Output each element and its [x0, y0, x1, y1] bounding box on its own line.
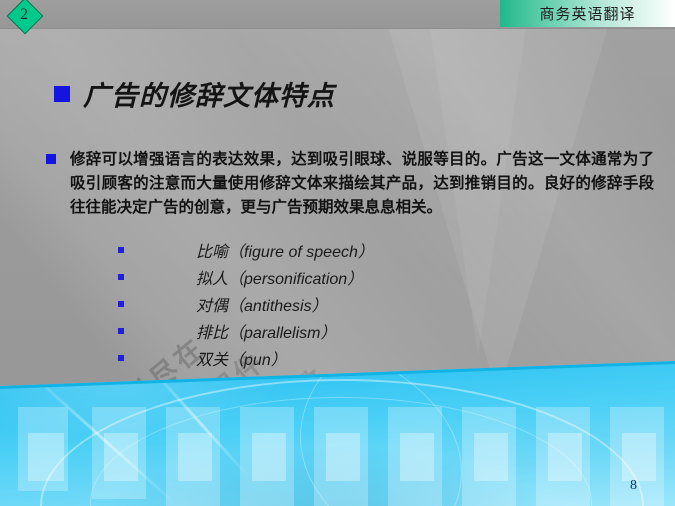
square-bullet-icon [46, 154, 56, 164]
list-item: 对偶（antithesis） [118, 290, 538, 317]
slide-heading-label: 广告的修辞文体特点 [83, 74, 335, 113]
square-bullet-icon [118, 355, 124, 361]
page-number: 8 [630, 478, 637, 494]
list-item-cn: 对偶 [196, 296, 228, 315]
list-item-en: （antithesis） [228, 298, 328, 315]
list-item: 双关（pun） [118, 344, 538, 371]
course-title-label: 商务英语翻译 [539, 3, 635, 24]
slide-number-badge-label: 2 [4, 1, 44, 29]
list-item-en: （pun） [228, 352, 287, 369]
list-item-en: （figure of speech） [228, 244, 374, 261]
list-item-cn: 双关 [196, 350, 228, 369]
list-item-label: 拟人（personification） [196, 265, 363, 289]
presentation-slide: 料尽在 学课件 精品教 2 商务英语翻译 广告的修辞文体特点 修辞可以增强语言的… [0, 0, 675, 506]
slide-footer-graphic [0, 361, 675, 506]
slide-heading: 广告的修辞文体特点 [54, 74, 335, 113]
list-item-label: 对偶（antithesis） [196, 292, 328, 316]
body-paragraph: 修辞可以增强语言的表达效果，达到吸引眼球、说服等目的。广告这一文体通常为了吸引顾… [46, 147, 654, 219]
list-item-en: （parallelism） [228, 325, 336, 342]
square-bullet-icon [54, 86, 70, 102]
list-item: 拟人（personification） [118, 263, 538, 290]
square-bullet-icon [118, 328, 124, 334]
square-bullet-icon [118, 247, 124, 253]
list-item-cn: 比喻 [196, 242, 228, 261]
list-item: 排比（parallelism） [118, 317, 538, 344]
square-bullet-icon [118, 301, 124, 307]
body-paragraph-text: 修辞可以增强语言的表达效果，达到吸引眼球、说服等目的。广告这一文体通常为了吸引顾… [70, 147, 654, 219]
list-item-label: 排比（parallelism） [196, 319, 337, 343]
course-title-banner: 商务英语翻译 [500, 0, 675, 27]
list-item-label: 比喻（figure of speech） [196, 238, 374, 262]
list-item-label: 双关（pun） [196, 346, 287, 370]
list-item-cn: 拟人 [196, 269, 228, 288]
list-item-en: （personification） [228, 271, 363, 288]
list-item: 比喻（figure of speech） [118, 236, 538, 263]
square-bullet-icon [118, 274, 124, 280]
list-item-cn: 排比 [196, 323, 228, 342]
slide-number-badge: 2 [4, 1, 60, 29]
